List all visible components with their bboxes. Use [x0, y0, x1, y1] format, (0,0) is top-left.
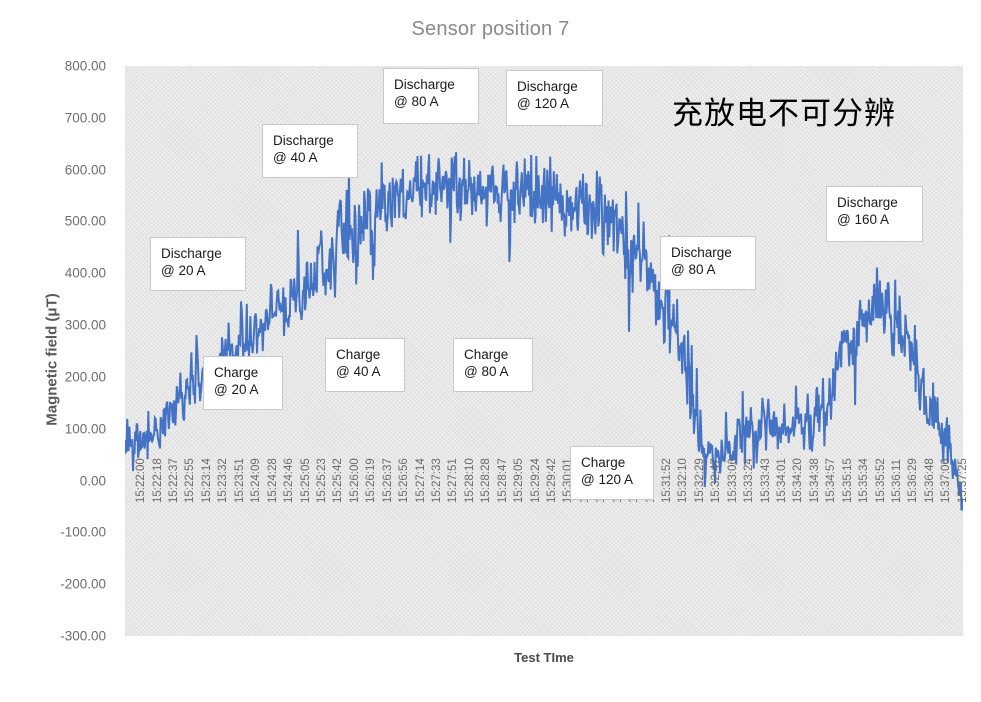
- annotation-callout: Discharge @ 40 A: [262, 124, 358, 178]
- y-tick-label: 800.00: [65, 59, 106, 74]
- chart-container: Sensor position 7 Magnetic field (μT) 80…: [0, 0, 981, 702]
- y-tick-label: 300.00: [65, 318, 106, 333]
- y-tick-label: -200.00: [60, 577, 106, 592]
- plot-area: [125, 66, 963, 636]
- x-axis-title: Test TIme: [125, 650, 963, 665]
- y-tick-label: -300.00: [60, 629, 106, 644]
- y-tick-label: 600.00: [65, 162, 106, 177]
- y-tick-label: 700.00: [65, 110, 106, 125]
- annotation-callout: Charge @ 40 A: [325, 338, 405, 392]
- annotation-callout: Charge @ 80 A: [453, 338, 533, 392]
- chart-title: Sensor position 7: [0, 18, 981, 41]
- annotation-callout: Discharge @ 160 A: [826, 186, 923, 242]
- annotation-callout: Discharge @ 80 A: [660, 236, 756, 290]
- overlay-note-text: 充放电不可分辨: [672, 88, 896, 133]
- annotation-callout: Charge @ 120 A: [570, 446, 654, 500]
- y-tick-label: 100.00: [65, 421, 106, 436]
- annotation-callout: Discharge @ 80 A: [383, 68, 479, 124]
- annotation-callout: Discharge @ 20 A: [150, 237, 246, 291]
- y-axis-tick-labels: 800.00700.00600.00500.00400.00300.00200.…: [0, 66, 118, 636]
- annotation-callout: Charge @ 20 A: [203, 356, 283, 410]
- y-tick-label: 500.00: [65, 214, 106, 229]
- annotation-callout: Discharge @ 120 A: [506, 70, 603, 126]
- y-tick-label: 200.00: [65, 369, 106, 384]
- magnetic-field-series: [125, 66, 963, 636]
- y-tick-label: -100.00: [60, 525, 106, 540]
- y-tick-label: 0.00: [80, 473, 106, 488]
- y-tick-label: 400.00: [65, 266, 106, 281]
